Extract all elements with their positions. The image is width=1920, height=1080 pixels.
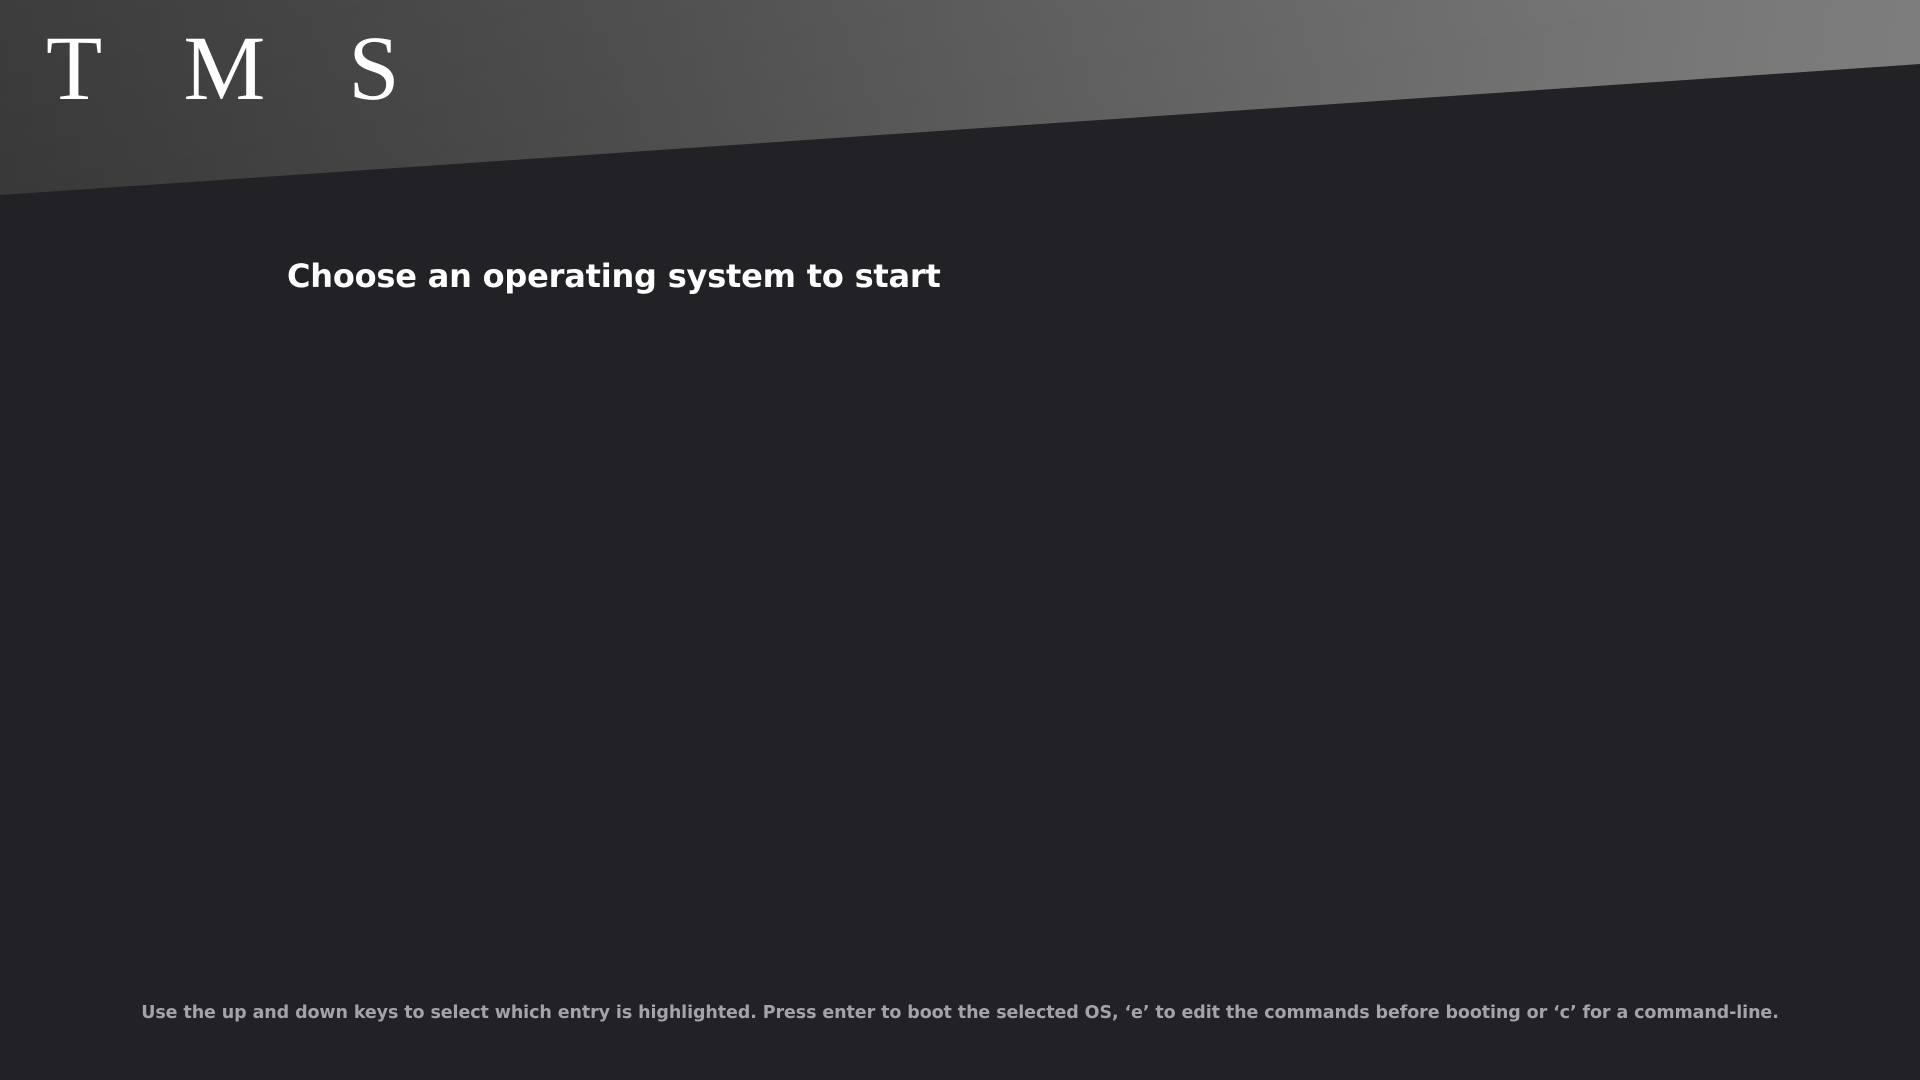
page-title: Choose an operating system to start	[287, 257, 941, 295]
brand-logo: T M S	[46, 22, 430, 114]
boot-entry-list[interactable]	[287, 320, 1633, 880]
boot-screen: T M S Choose an operating system to star…	[0, 0, 1920, 1080]
main-region: Choose an operating system to start	[0, 200, 1920, 970]
keyboard-hint-text: Use the up and down keys to select which…	[0, 1003, 1920, 1023]
